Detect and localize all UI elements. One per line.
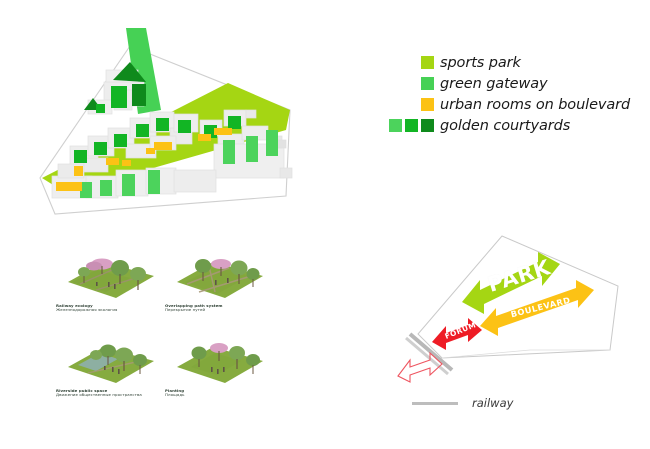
thumbnail-caption: Planting Площадь xyxy=(165,389,273,398)
legend-item-label: green gateway xyxy=(440,76,548,92)
caption-title-ru: Движение общественные пространства xyxy=(56,393,164,397)
masterplan-site-plan xyxy=(18,18,318,228)
thumbnail-image xyxy=(165,333,273,385)
railway-line-icon xyxy=(412,402,458,405)
legend-swatch xyxy=(421,77,434,90)
legend-swatch xyxy=(421,119,434,132)
thumbnail-riverside-public-space: Riverside public space Движение обществе… xyxy=(56,333,164,398)
thumbnail-railway-ecology: Railway ecology Железнодорожная экология xyxy=(56,248,164,313)
caption-title-ru: Площадь xyxy=(165,393,273,397)
thumbnail-overlapping-path-system: Overlapping path system Перекрытие путей xyxy=(165,248,273,313)
thumbnail-image xyxy=(56,333,164,385)
caption-title-ru: Железнодорожная экология xyxy=(56,308,164,312)
legend-swatch xyxy=(405,119,418,132)
thumbnail-caption: Railway ecology Железнодорожная экология xyxy=(56,304,164,313)
arrow-connection-outline xyxy=(398,353,442,382)
legend-swatch-group xyxy=(378,98,440,111)
legend-swatch-group xyxy=(378,56,440,69)
legend-item-golden-courtyards: golden courtyards xyxy=(378,115,643,136)
legend-item-urban-rooms: urban rooms on boulevard xyxy=(378,94,643,115)
legend: sports park green gateway urban rooms on… xyxy=(378,52,643,136)
railway-key: railway xyxy=(412,396,513,410)
legend-swatch-group xyxy=(378,77,440,90)
legend-item-label: golden courtyards xyxy=(440,118,570,134)
thumbnail-caption: Riverside public space Движение обществе… xyxy=(56,389,164,398)
legend-item-label: sports park xyxy=(440,55,521,71)
legend-swatch xyxy=(421,98,434,111)
legend-item-sports-park: sports park xyxy=(378,52,643,73)
thumbnail-caption: Overlapping path system Перекрытие путей xyxy=(165,304,273,313)
presentation-board: sports park green gateway urban rooms on… xyxy=(0,0,650,449)
legend-swatch xyxy=(389,119,402,132)
legend-item-green-gateway: green gateway xyxy=(378,73,643,94)
thumbnail-image xyxy=(165,248,273,300)
legend-swatch-group xyxy=(378,119,440,132)
legend-item-label: urban rooms on boulevard xyxy=(440,97,630,113)
thumbnail-planting: Planting Площадь xyxy=(165,333,273,398)
caption-title-ru: Перекрытие путей xyxy=(165,308,273,312)
concept-diagram: PARK BOULEVARD FORUM xyxy=(380,230,630,390)
thumbnail-image xyxy=(56,248,164,300)
legend-swatch xyxy=(421,56,434,69)
railway-key-label: railway xyxy=(472,396,513,410)
